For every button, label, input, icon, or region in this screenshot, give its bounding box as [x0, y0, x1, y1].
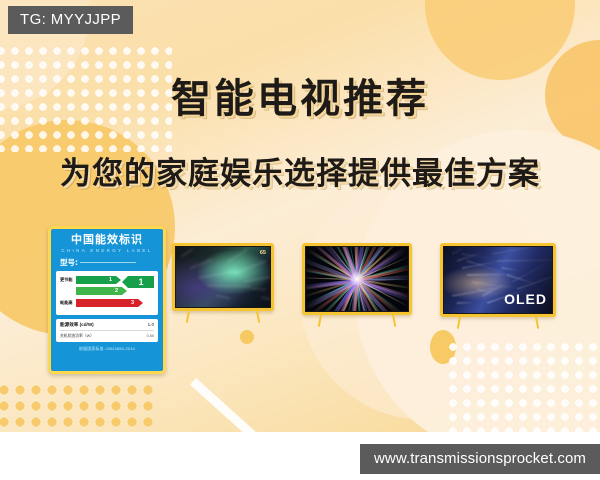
energy-label-standard: 依据国家标准: GB24850-2010: [56, 346, 158, 352]
tv-screen: [305, 246, 409, 312]
model-blank-line: [80, 262, 136, 263]
grade-bar-2: 2: [76, 287, 122, 295]
page-title: 智能电视推荐: [171, 76, 429, 122]
wave-highlight: [261, 296, 271, 303]
china-energy-label-card: 中国能效标识 CHINA ENERGY LABEL 型号: 更节能 1 2 耗能…: [48, 226, 166, 374]
wave-highlight: [252, 288, 266, 290]
grade-row: 耗能高 3: [60, 298, 154, 307]
wave-highlight: [207, 284, 251, 287]
tv-oled[interactable]: OLED: [440, 243, 556, 331]
wave-highlight: [243, 273, 271, 282]
energy-label-model-row: 型号:: [60, 257, 158, 268]
tv-green-wave[interactable]: 65: [172, 243, 274, 325]
grade-bar-2-value: 2: [115, 288, 118, 294]
tv-screen: OLED: [443, 246, 553, 314]
tv-stand: [302, 315, 412, 329]
energy-spec-box: 能源效率 (cd/W) 1.0 关机状态功率（W） 0.50: [56, 319, 158, 342]
energy-spec-row-standby: 关机状态功率（W） 0.50: [60, 330, 154, 339]
grade-bar-3: 3: [76, 299, 138, 307]
subtitle-block: 为您的家庭娱乐选择提供最佳方案: [0, 155, 600, 193]
diagonal-stripe: [190, 378, 267, 432]
efficiency-key: 能源效率 (cd/W): [60, 322, 94, 328]
tv-frame: [302, 243, 412, 315]
burst-core: [349, 271, 365, 287]
energy-label-model-label: 型号:: [60, 258, 78, 267]
wave-highlight: [216, 294, 230, 299]
grade-bar-1-value: 1: [109, 277, 112, 283]
poster-root: 智能电视推荐 为您的家庭娱乐选择提供最佳方案 中国能效标识 CHINA ENER…: [0, 0, 600, 480]
page-subtitle: 为您的家庭娱乐选择提供最佳方案: [60, 155, 540, 193]
tv-stand: [172, 311, 274, 325]
standby-value: 0.50: [147, 334, 154, 338]
energy-label-subtitle: CHINA ENERGY LABEL: [56, 247, 158, 254]
tv-size-badge: 65: [260, 250, 266, 256]
dot-grid-bottom-right: [446, 340, 600, 432]
wave-highlight: [198, 271, 232, 278]
website-watermark: www.transmissionsprocket.com: [360, 444, 600, 474]
tv-frame: OLED: [440, 243, 556, 317]
energy-grade-box: 更节能 1 2 耗能高 3 1: [56, 271, 158, 315]
oled-streak: [457, 302, 475, 304]
tv-screen: 65: [175, 246, 271, 308]
tv-leg-right: [256, 311, 260, 323]
tv-stand: [440, 317, 556, 331]
grade-label-worst: 耗能高: [60, 300, 76, 306]
energy-spec-row-efficiency: 能源效率 (cd/W) 1.0: [60, 322, 154, 328]
tv-frame: 65: [172, 243, 274, 311]
bg-dot-small: [240, 330, 254, 344]
standby-key: 关机状态功率（W）: [60, 334, 94, 339]
tv-leg-left: [456, 317, 460, 329]
wave-highlight: [227, 248, 248, 263]
efficiency-value: 1.0: [148, 322, 154, 327]
tv-leg-right: [392, 315, 396, 327]
wave-highlight: [181, 248, 193, 257]
tv-color-burst[interactable]: [302, 243, 412, 329]
oled-logo-text: OLED: [504, 291, 547, 307]
tv-leg-left: [186, 311, 190, 323]
oled-streak: [497, 259, 553, 262]
dot-grid-bottom-left: [0, 382, 156, 432]
selected-grade-badge: 1: [128, 276, 154, 288]
title-block: 智能电视推荐: [0, 76, 600, 122]
oled-streak: [492, 246, 545, 255]
grade-bar-3-value: 3: [131, 300, 134, 306]
wave-highlight: [190, 259, 213, 269]
wave-highlight: [235, 260, 267, 274]
telegram-tag-badge: TG: MYYJJPP: [8, 6, 133, 34]
grade-bar-1: 1: [76, 276, 116, 284]
energy-label-title: 中国能效标识: [56, 233, 158, 246]
tv-leg-left: [317, 315, 321, 327]
tv-leg-right: [535, 317, 539, 329]
grade-label-best: 更节能: [60, 277, 76, 283]
